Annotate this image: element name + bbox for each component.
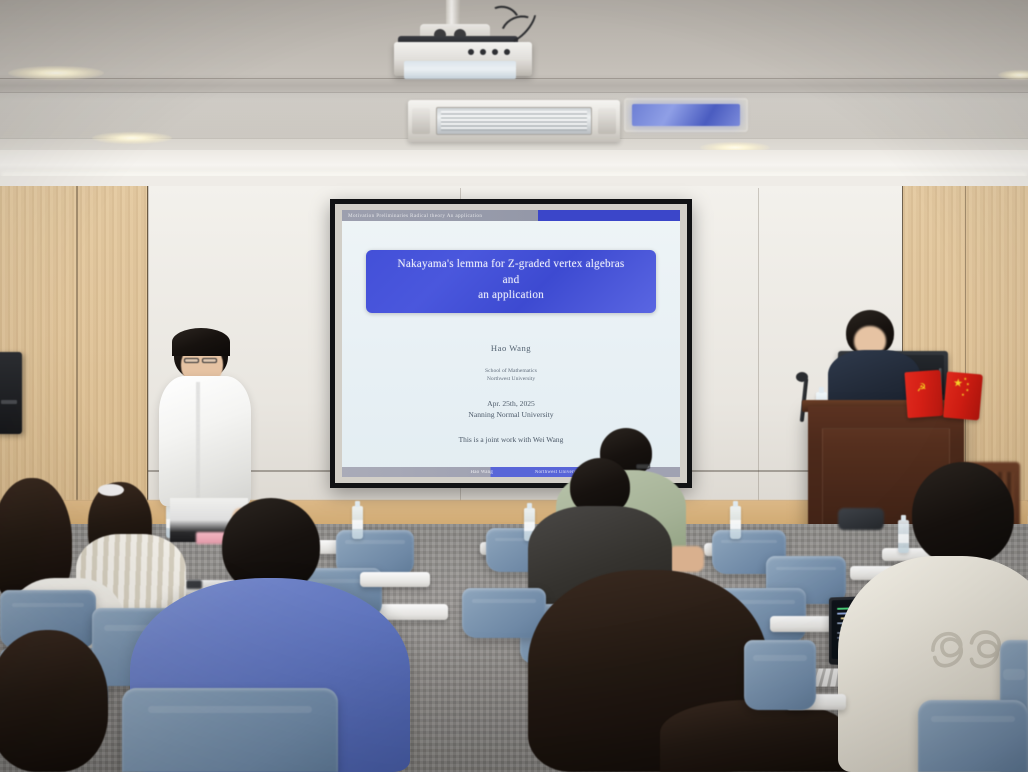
communist-party-flag: ☭ xyxy=(904,370,943,418)
slide-location: Nanning Normal University xyxy=(342,409,680,420)
classroom-chair xyxy=(744,640,816,710)
slide-nav-text: Motivation Preliminaries Radical theory … xyxy=(342,213,482,219)
slide-title-line-3: an application xyxy=(372,288,650,304)
wood-wall-panel-left xyxy=(0,186,148,516)
water-bottle xyxy=(730,506,741,539)
flag-small-star: ★ xyxy=(965,388,969,392)
ceiling-downlight xyxy=(92,132,172,144)
water-bottle xyxy=(352,506,363,539)
presenter-glasses-left xyxy=(184,358,199,363)
projector-lens-panel xyxy=(404,61,516,79)
classroom-chair xyxy=(122,688,338,772)
flag-large-star: ★ xyxy=(953,378,964,390)
tablet-arm-desk xyxy=(360,572,430,587)
classroom-chair xyxy=(462,588,546,638)
blue-illuminated-panel xyxy=(632,104,740,126)
slide-title-box: Nakayama's lemma for Z-graded vertex alg… xyxy=(366,250,656,313)
slide-title-line-1: Nakayama's lemma for Z-graded vertex alg… xyxy=(372,257,650,273)
smartphone-on-desk xyxy=(186,580,202,589)
hammer-sickle-emblem: ☭ xyxy=(916,383,927,395)
presenter-glasses-right xyxy=(202,358,217,363)
flag-small-star: ★ xyxy=(966,382,970,386)
water-bottle xyxy=(898,520,909,553)
presenter-shirt xyxy=(159,376,251,506)
foreground-head xyxy=(912,462,1014,566)
microphone-head xyxy=(796,372,808,382)
slide-navigation-bar: Motivation Preliminaries Radical theory … xyxy=(342,210,680,221)
slide-affiliation-line-1: School of Mathematics xyxy=(342,367,680,375)
audience-glasses xyxy=(636,464,650,469)
slide-affiliation-line-2: Northwest University xyxy=(342,375,680,383)
tshirt-graphic-print xyxy=(920,604,1012,700)
slide-footer-author: Hao Wang xyxy=(470,470,493,475)
ceiling-air-vent xyxy=(408,100,620,142)
slide-title-line-2: and xyxy=(372,273,650,289)
audience-arm xyxy=(668,546,704,572)
presenter-shirt-placket xyxy=(196,382,200,500)
foreground-head-dark-hair xyxy=(0,630,108,772)
lecture-hall-photo: Motivation Preliminaries Radical theory … xyxy=(0,0,1028,772)
slide-date: Apr. 25th, 2025 xyxy=(342,398,680,409)
flag-small-star: ★ xyxy=(961,393,965,397)
chinese-national-flag: ★ ★ ★ ★ ★ xyxy=(943,372,983,421)
presenter-hair-top xyxy=(172,328,230,356)
wall-loudspeaker xyxy=(0,352,22,434)
foreground-person-long-hair-2 xyxy=(660,700,850,772)
hair-scrunchie xyxy=(98,484,124,496)
bag-on-ledge xyxy=(838,508,884,530)
ceiling-downlight xyxy=(8,66,104,80)
slide-author: Hao Wang xyxy=(342,343,680,353)
classroom-chair xyxy=(918,700,1028,772)
